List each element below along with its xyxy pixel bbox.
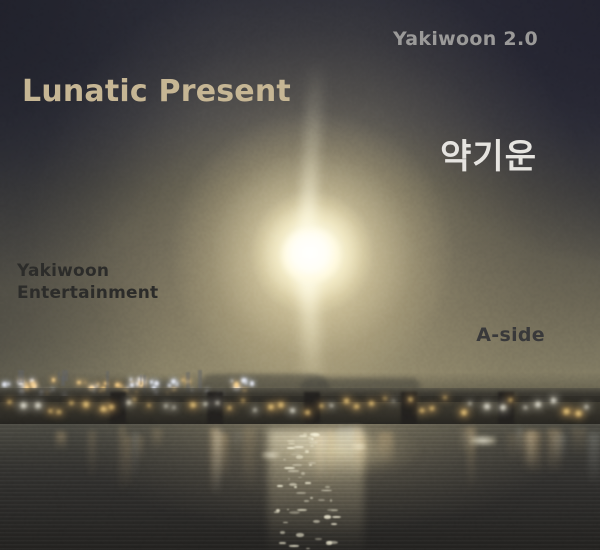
moonlight-sparkle	[318, 499, 325, 501]
light-reflection	[379, 432, 393, 466]
bridge-lamp	[289, 408, 296, 413]
bridge-lamp	[534, 401, 542, 407]
city-light	[32, 384, 36, 388]
bridge-lamp	[215, 401, 220, 405]
city-light	[152, 386, 156, 390]
bridge-lamp	[172, 406, 176, 409]
city-light	[242, 389, 247, 394]
moonlight-sparkle	[325, 486, 330, 488]
light-reflection	[527, 433, 534, 467]
light-reflection	[152, 429, 162, 450]
bridge-pier	[207, 392, 223, 428]
building-silhouette	[58, 372, 60, 380]
moonlight-sparkle	[305, 450, 309, 453]
bridge-lamp	[267, 404, 275, 410]
bridge-lamp	[164, 404, 168, 407]
bridge-lamp	[508, 398, 514, 402]
bridge-pier	[110, 392, 126, 428]
bridge-lamp	[523, 406, 527, 409]
album-cover: Yakiwoon 2.0 Lunatic Present 약기운 Yakiwoo…	[0, 0, 600, 550]
bridge-lamp	[483, 403, 491, 409]
city-light	[166, 392, 169, 395]
bridge-lamp	[253, 408, 257, 411]
moonlight-sparkle	[292, 464, 301, 467]
bridge-lamp	[147, 404, 151, 407]
city-light	[135, 391, 138, 394]
moonlight-sparkle	[301, 472, 305, 475]
light-reflection	[217, 433, 228, 480]
moonlight-sparkle	[297, 509, 307, 511]
building-silhouette	[140, 375, 142, 386]
moonlight-sparkle	[287, 509, 290, 510]
bridge-body	[0, 396, 600, 426]
moonlight-sparkle	[327, 541, 337, 544]
bridge-lamp	[19, 402, 28, 409]
city-light	[120, 385, 122, 387]
moonlight-sparkle	[321, 490, 331, 491]
bright-light-reflection	[262, 452, 280, 458]
moonlight-sparkle	[288, 443, 295, 444]
bridge-lamp	[227, 406, 232, 410]
city-light	[231, 380, 233, 382]
bridge-lamp	[419, 408, 425, 413]
city-light	[77, 381, 81, 385]
light-reflection	[359, 435, 366, 478]
building-silhouette	[106, 371, 109, 393]
moonlight-sparkle	[309, 441, 318, 444]
moonlight-sparkle	[332, 516, 341, 518]
city-light	[154, 391, 158, 395]
bridge-lamp	[460, 409, 468, 416]
light-reflection	[353, 427, 362, 479]
city-light	[130, 378, 132, 380]
light-reflection	[213, 430, 221, 498]
bridge-lamp	[99, 406, 107, 413]
bridge-lamp	[584, 405, 589, 409]
moonlight-sparkle	[289, 483, 297, 486]
hill-silhouette	[200, 374, 330, 390]
light-reflection	[588, 433, 600, 487]
moonlight-sparkle	[303, 433, 307, 436]
moonlight-sparkle	[294, 486, 296, 488]
city-light	[216, 393, 220, 397]
bridge-lamp	[408, 397, 413, 401]
bridge-lamp	[189, 402, 197, 408]
album-title: Lunatic Present	[22, 74, 291, 109]
light-reflection	[517, 428, 522, 454]
building-silhouette	[62, 370, 68, 381]
bridge-lamp	[133, 398, 136, 401]
light-reflection	[348, 427, 362, 477]
city-light	[171, 379, 176, 384]
record-label-line2: Entertainment	[17, 282, 197, 304]
hill-silhouette	[300, 378, 420, 390]
bridge-lamp	[56, 410, 62, 415]
bridge-lamp	[48, 409, 54, 413]
bridge-lamp	[203, 402, 208, 406]
bridge-lamp	[574, 410, 583, 417]
record-label-credit: Yakiwoon Entertainment	[17, 260, 197, 304]
city-light	[96, 385, 98, 387]
moon-icon	[282, 228, 340, 282]
city-light	[22, 385, 24, 387]
city-light	[45, 392, 49, 396]
light-reflection	[528, 431, 541, 475]
bridge-lamp	[353, 404, 360, 409]
moonlight-sparkle	[304, 500, 310, 502]
moonlight-sparkle	[331, 510, 338, 511]
light-reflection	[126, 436, 131, 488]
moonlight-sparkle	[326, 541, 332, 544]
bridge-lamp	[383, 397, 387, 400]
city-light	[110, 394, 112, 396]
moonlight-sparkle	[324, 515, 332, 518]
bridge-lamp	[34, 402, 43, 409]
city-light	[39, 391, 43, 395]
light-reflection	[328, 430, 334, 493]
bridge-lamp	[499, 404, 507, 410]
building-silhouette	[18, 370, 24, 382]
bridge-lamp	[343, 398, 350, 404]
bridge-lamp	[329, 404, 334, 408]
version-credit-text: Yakiwoon 2.0	[393, 28, 538, 50]
water-ripple-texture	[0, 424, 600, 550]
moonlight-sparkle	[313, 434, 320, 436]
light-reflection	[56, 432, 66, 450]
bridge-lamp	[7, 400, 12, 404]
city-light	[7, 383, 10, 386]
moonlight-sparkle	[289, 545, 299, 547]
bridge-lamp	[319, 404, 324, 408]
city-light	[21, 390, 24, 393]
moonlight-sparkle	[290, 454, 301, 456]
moonlight-sparkle	[310, 445, 314, 447]
bridge-lamp	[368, 401, 374, 406]
light-reflection	[316, 435, 323, 487]
water-bright-patch	[250, 430, 430, 500]
light-reflection	[119, 427, 126, 494]
city-light	[245, 382, 247, 384]
moonlight-sparkle	[299, 435, 308, 438]
bridge-lamp	[277, 402, 285, 408]
bright-light-reflection	[470, 436, 496, 445]
moonlight-sparkle	[294, 446, 305, 448]
moonlight-sparkle	[330, 499, 332, 502]
city-light	[52, 378, 55, 381]
water-glow	[0, 424, 600, 550]
city-light	[52, 389, 54, 391]
light-reflection	[523, 431, 536, 471]
moonlight-sparkle	[279, 542, 285, 545]
building-silhouette	[198, 370, 202, 391]
light-reflection	[318, 436, 326, 482]
city-light	[223, 393, 226, 396]
moonlight-sparkle	[313, 520, 320, 523]
moonlight-sparkle	[327, 509, 337, 511]
bright-light-reflection	[352, 444, 366, 449]
moonlight-sparkle	[296, 492, 306, 495]
light-reflection	[88, 431, 95, 480]
light-reflection	[133, 433, 137, 480]
city-light	[250, 381, 254, 385]
bridge-lamp	[562, 408, 571, 415]
city-light	[24, 385, 29, 390]
moon-reflection-path	[268, 430, 364, 550]
city-light	[49, 391, 51, 393]
moonlight-sparkle	[288, 478, 290, 480]
bridge-lights	[0, 392, 600, 418]
city-light	[115, 383, 120, 388]
light-reflection	[313, 434, 322, 466]
city-light	[130, 383, 133, 386]
light-reflection	[233, 432, 242, 450]
city-light	[176, 384, 178, 386]
bridge-lamp	[69, 401, 74, 405]
moonlight-sparkle	[283, 459, 287, 460]
moonlight-sparkle	[276, 509, 280, 512]
side-marker: A-side	[476, 324, 545, 346]
moonlight-sparkle	[287, 440, 295, 442]
bridge-lamp	[108, 404, 115, 410]
moonlight-sparkle	[306, 548, 310, 549]
lens-flare-lower	[299, 268, 324, 418]
city-light	[234, 382, 239, 387]
light-reflection	[553, 434, 566, 461]
moonlight-sparkle	[308, 437, 313, 440]
bridge-lamp	[82, 401, 91, 408]
city-light	[191, 390, 193, 392]
city-light	[182, 379, 184, 381]
moonlight-sparkle	[298, 477, 302, 478]
moonlight-sparkle	[283, 522, 287, 523]
moonlight-sparkle	[296, 533, 304, 536]
bridge-lamp	[550, 397, 558, 403]
bridge-lamp	[429, 406, 435, 411]
moonlight-sparkle	[309, 464, 313, 465]
light-reflection	[294, 436, 310, 460]
moonlight-sparkle	[310, 497, 312, 499]
city-light	[154, 381, 159, 386]
city-light	[205, 390, 209, 394]
light-reflection	[547, 429, 561, 475]
moonlight-sparkle	[284, 467, 295, 469]
bridge-lamp	[468, 402, 472, 405]
moonlight-sparkle	[288, 470, 299, 471]
city-light	[172, 388, 176, 392]
moonlight-sparkle	[296, 455, 303, 458]
city-light	[99, 390, 102, 393]
bridge-pier	[498, 392, 514, 428]
light-reflection	[210, 428, 221, 495]
light-reflection	[243, 428, 256, 492]
city-light	[93, 391, 95, 393]
moonlight-sparkle	[277, 485, 283, 487]
bridge-lamp	[443, 396, 446, 399]
moonlight-sparkle	[331, 523, 337, 525]
lens-flare-upper	[297, 60, 324, 260]
moonlight-sparkle	[274, 511, 278, 513]
water-surface	[0, 424, 600, 550]
building-silhouette	[186, 372, 190, 393]
city-light	[123, 389, 129, 395]
bridge-pier	[401, 392, 417, 428]
city-light	[97, 383, 99, 385]
moonlight-sparkle	[289, 511, 300, 514]
city-light	[62, 393, 68, 399]
bridge-lamp	[126, 400, 133, 405]
light-reflection	[137, 436, 143, 463]
city-light	[150, 380, 154, 384]
city-light	[85, 382, 87, 384]
moonlight-sparkle	[311, 438, 314, 440]
city-light	[168, 384, 171, 387]
building-silhouette	[143, 375, 146, 395]
light-reflection	[572, 428, 586, 457]
moonlight-sparkle	[280, 531, 285, 534]
moonlight-sparkle	[310, 433, 319, 436]
bridge-lamp	[304, 410, 310, 415]
light-reflection	[507, 433, 523, 462]
moonlight-sparkle	[308, 462, 316, 464]
album-title-korean: 약기운	[440, 129, 537, 178]
moonlight-sparkle	[315, 538, 322, 540]
bridge-lamp	[392, 400, 395, 403]
moonlight-sparkle	[305, 482, 311, 483]
moonlight-sparkle	[287, 447, 295, 449]
bridge-lamp	[241, 399, 245, 402]
light-reflection	[337, 427, 352, 465]
bridge-pier	[304, 392, 320, 428]
record-label-line1: Yakiwoon	[17, 260, 197, 282]
